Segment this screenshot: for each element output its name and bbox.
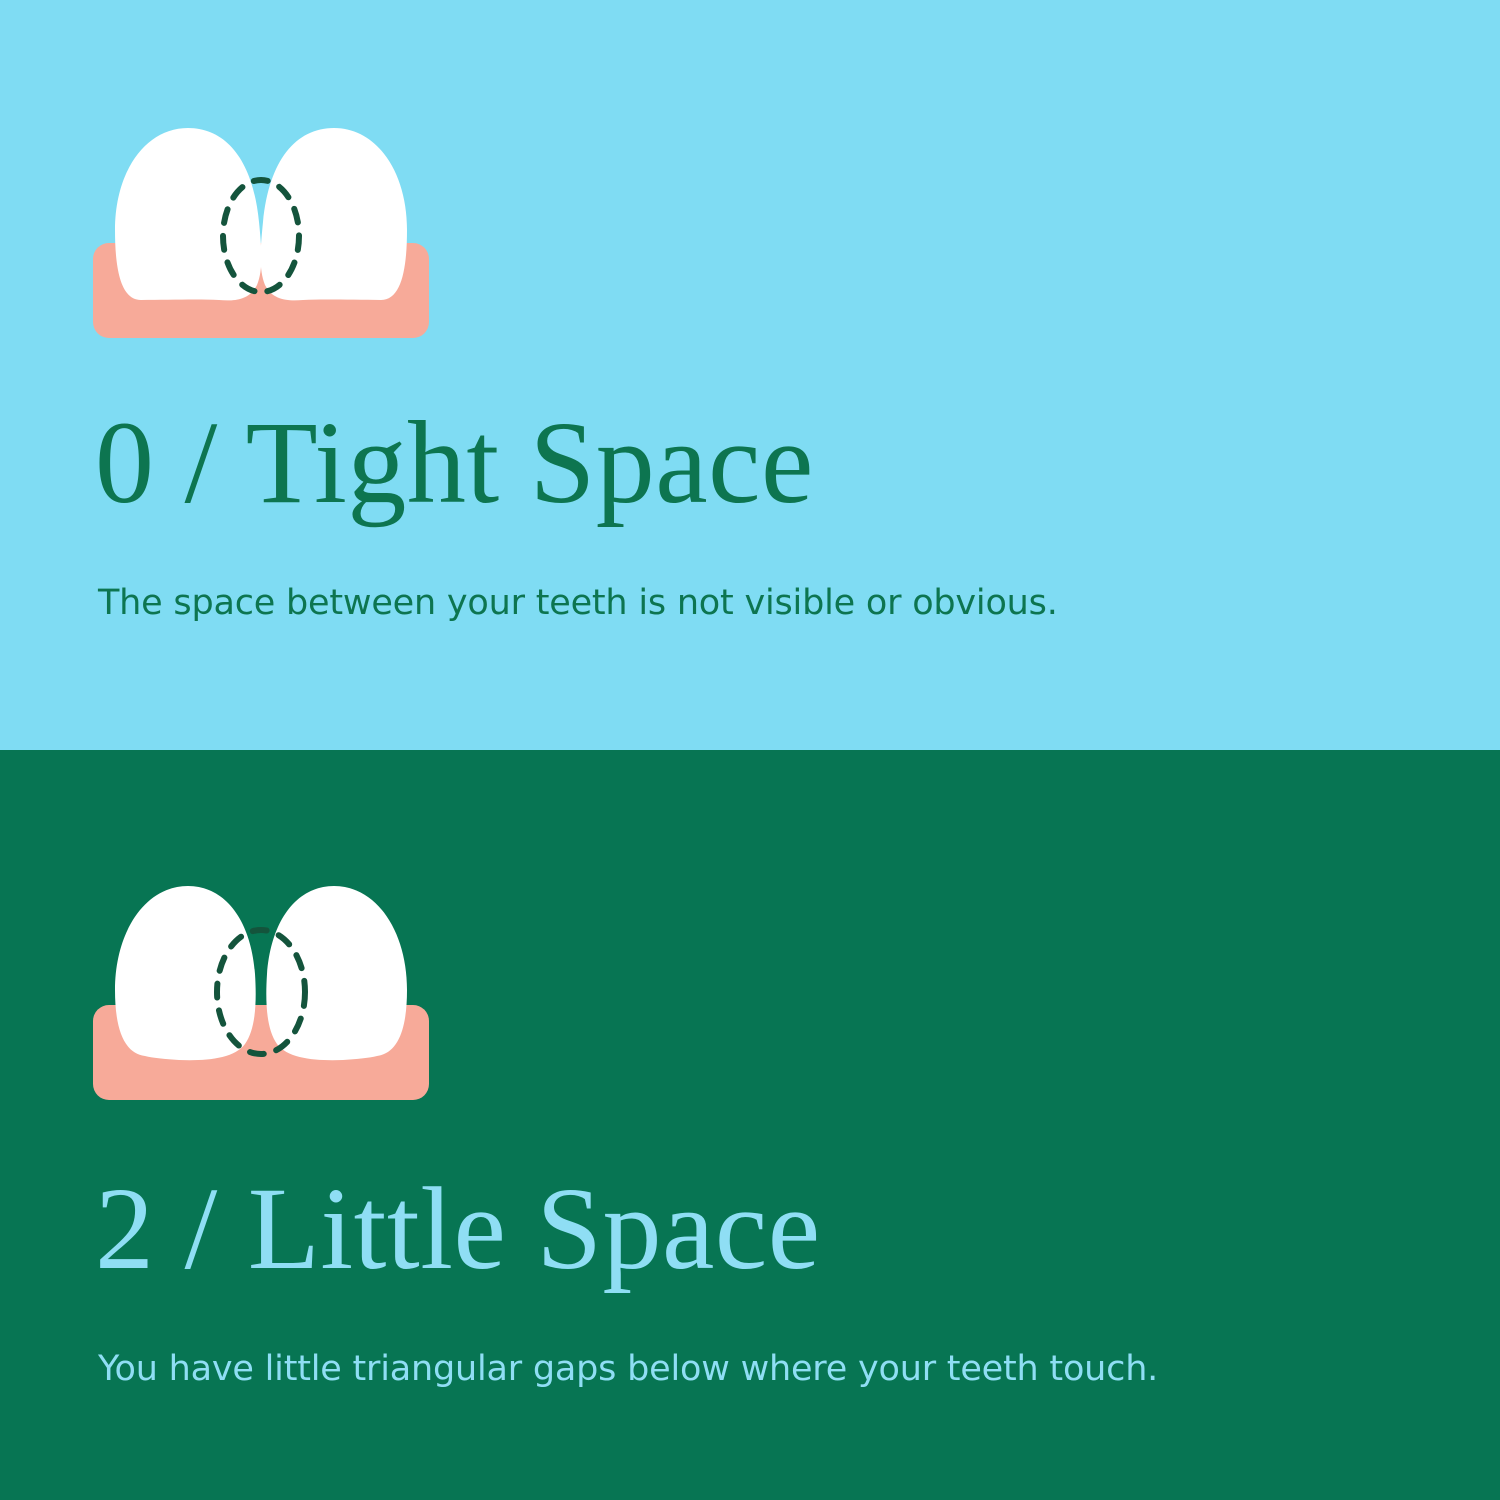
right-tooth-shape	[261, 128, 407, 300]
left-tooth-shape	[115, 886, 256, 1060]
page-title-tight-space: 0 / Tight Space	[95, 404, 814, 522]
left-tooth-shape	[115, 128, 261, 300]
space-size-guide-board: 0 / Tight Space The space between your t…	[0, 0, 1500, 1500]
panel-little-space: 2 / Little Space You have little triangu…	[0, 750, 1500, 1500]
page-title-little-space: 2 / Little Space	[95, 1170, 821, 1288]
description-tight-space: The space between your teeth is not visi…	[98, 582, 1058, 624]
description-little-space: You have little triangular gaps below wh…	[98, 1348, 1158, 1390]
right-tooth-shape	[266, 886, 407, 1060]
teeth-tight-gap-illustration	[93, 110, 429, 338]
teeth-little-gap-illustration	[93, 872, 429, 1100]
panel-tight-space: 0 / Tight Space The space between your t…	[0, 0, 1500, 750]
